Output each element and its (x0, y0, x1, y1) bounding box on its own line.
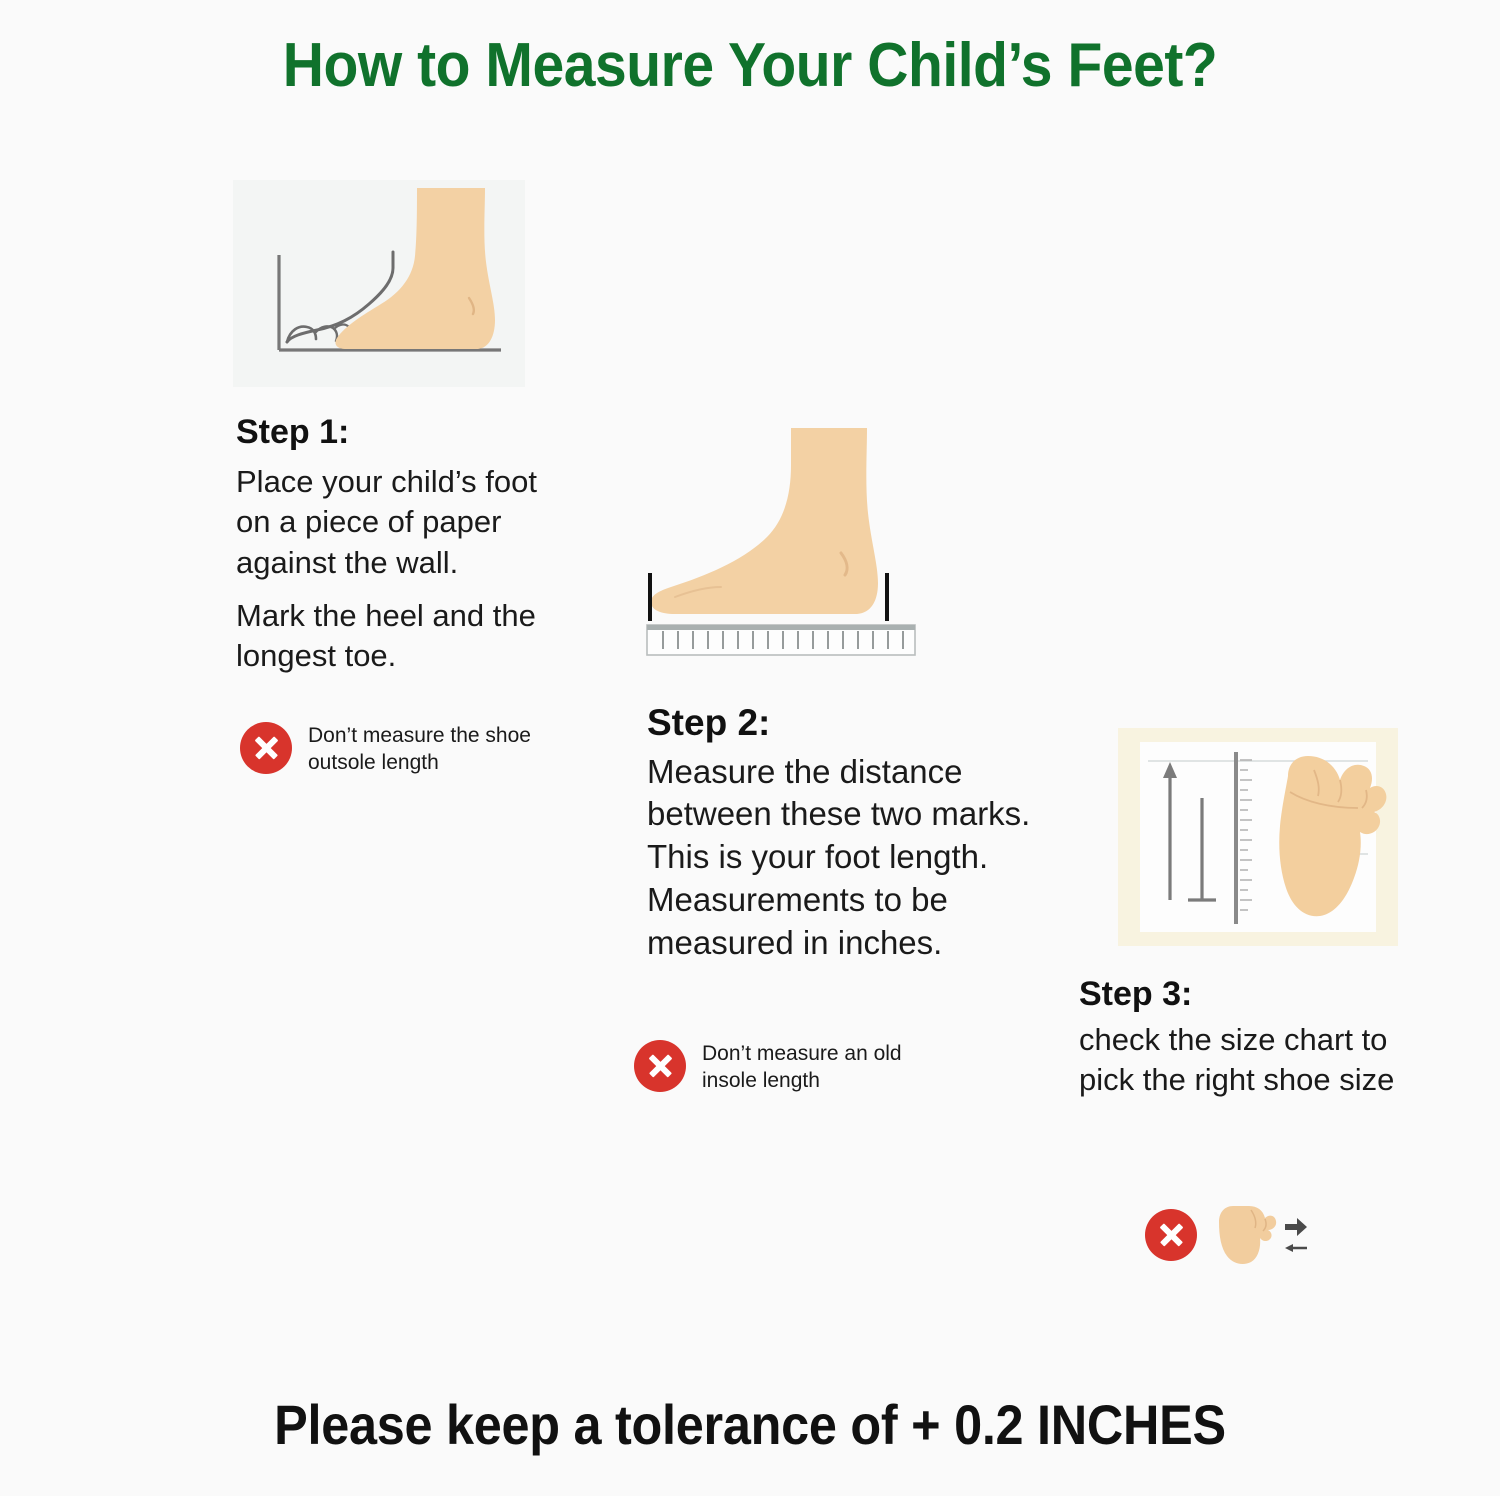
step-1-body-line-2: Mark the heel and the longest toe. (236, 596, 566, 677)
step-2-body-line-1: Measure the distance between these two m… (647, 751, 1077, 965)
step-1-warning-text: Don’t measure the shoe outsole length (308, 722, 540, 777)
step-2-illustration-panel (645, 425, 935, 665)
infographic-canvas: How to Measure Your Child’s Feet? Step 1… (0, 0, 1500, 1496)
foot-sole-with-arrows-icon (1213, 1200, 1309, 1270)
step-2-warning-text: Don’t measure an old insole length (702, 1040, 934, 1095)
step-2-heading: Step 2: (647, 702, 1077, 745)
red-x-circle-icon (240, 722, 292, 774)
step-2-body: Measure the distance between these two m… (647, 751, 1077, 965)
step-2-warning-note: Don’t measure an old insole length (634, 1040, 934, 1095)
tolerance-footer-text: Please keep a tolerance of + 0.2 INCHES (75, 1392, 1425, 1457)
step-3-body: check the size chart to pick the right s… (1079, 1020, 1419, 1101)
red-x-circle-icon (1145, 1209, 1197, 1261)
step-1-warning-note: Don’t measure the shoe outsole length (240, 722, 540, 777)
foot-sole-with-vertical-ruler-icon (1118, 728, 1398, 946)
step-1-illustration-panel (233, 180, 525, 387)
step-3-block: Step 3: check the size chart to pick the… (1079, 975, 1419, 1101)
foot-side-with-ruler-icon (645, 425, 935, 665)
step-3-illustration-panel (1118, 728, 1398, 946)
foot-side-against-wall-icon (233, 180, 525, 387)
step-1-heading: Step 1: (236, 413, 566, 452)
step-1-body: Place your child’s foot on a piece of pa… (236, 462, 566, 677)
step-3-body-line-1: check the size chart to pick the right s… (1079, 1020, 1419, 1101)
page-title: How to Measure Your Child’s Feet? (60, 30, 1440, 101)
red-x-circle-icon (634, 1040, 686, 1092)
step-3-warning-note (1145, 1200, 1309, 1270)
step-1-body-line-1: Place your child’s foot on a piece of pa… (236, 462, 566, 583)
step-1-block: Step 1: Place your child’s foot on a pie… (236, 413, 566, 677)
step-3-heading: Step 3: (1079, 975, 1419, 1014)
step-2-block: Step 2: Measure the distance between the… (647, 702, 1077, 965)
